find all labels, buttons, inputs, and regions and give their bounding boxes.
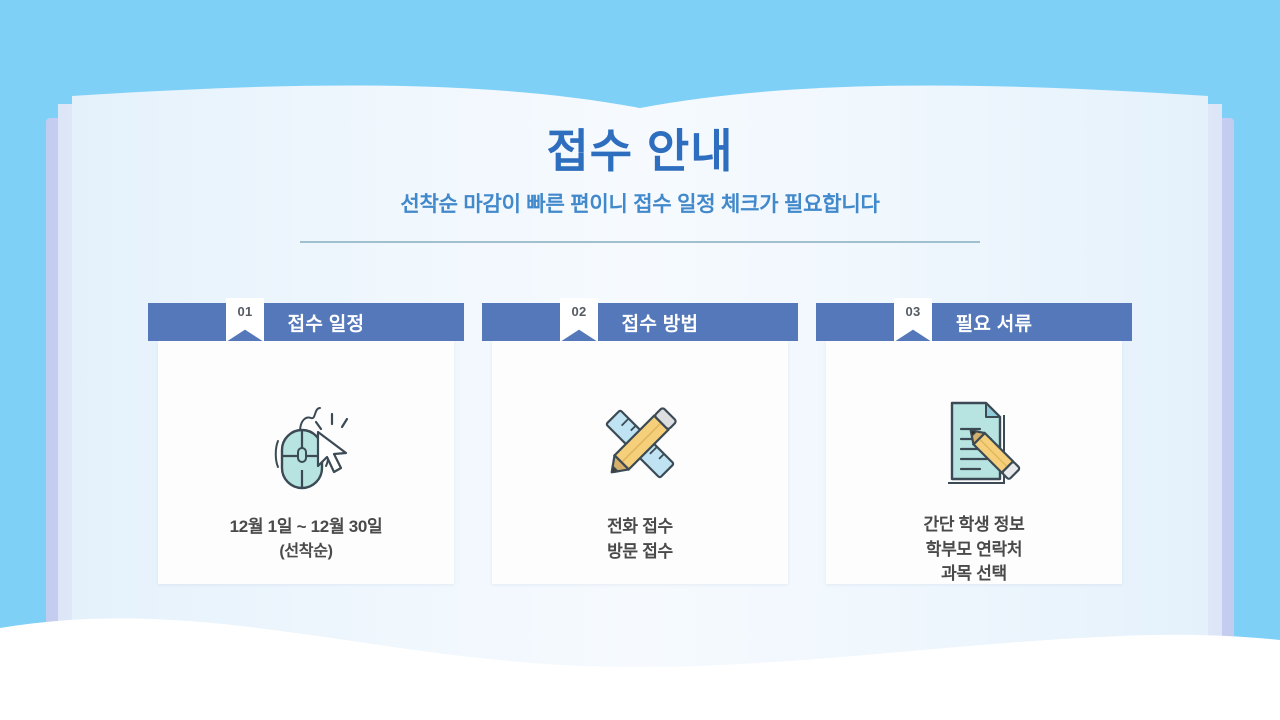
page-title: 접수 안내 bbox=[0, 126, 1280, 178]
slide-canvas: 접수 안내 선착순 마감이 빠른 편이니 접수 일정 체크가 필요합니다 01 … bbox=[0, 0, 1280, 720]
card-header-02: 02 접수 방법 bbox=[482, 303, 798, 341]
card-01[interactable]: 01 접수 일정 bbox=[148, 303, 464, 584]
ribbon-badge-icon: 02 bbox=[560, 298, 598, 342]
card-line: 방문 접수 bbox=[607, 540, 673, 565]
document-pencil-icon bbox=[924, 393, 1024, 493]
card-number-02: 02 bbox=[571, 304, 586, 319]
card-line: 학부모 연락처 bbox=[924, 538, 1025, 563]
card-body-01: 12월 1일 ~ 12월 30일 (선착순) bbox=[158, 341, 454, 584]
card-header-03: 03 필요 서류 bbox=[816, 303, 1132, 341]
card-title-02: 접수 방법 bbox=[622, 309, 699, 336]
card-line: 과목 선택 bbox=[924, 562, 1025, 587]
mouse-click-icon bbox=[256, 393, 356, 495]
card-title-03: 필요 서류 bbox=[956, 309, 1033, 336]
card-text-01: 12월 1일 ~ 12월 30일 (선착순) bbox=[230, 515, 383, 563]
card-title-01: 접수 일정 bbox=[288, 309, 365, 336]
card-text-02: 전화 접수 방문 접수 bbox=[607, 515, 673, 564]
bottom-wave-decoration bbox=[0, 570, 1280, 720]
card-03[interactable]: 03 필요 서류 bbox=[816, 303, 1132, 584]
pencil-ruler-icon bbox=[590, 393, 690, 495]
card-body-03: 간단 학생 정보 학부모 연락처 과목 선택 bbox=[826, 341, 1122, 584]
page-subtitle: 선착순 마감이 빠른 편이니 접수 일정 체크가 필요합니다 bbox=[0, 188, 1280, 218]
header-divider bbox=[300, 241, 980, 243]
ribbon-badge-icon: 03 bbox=[894, 298, 932, 342]
card-body-02: 전화 접수 방문 접수 bbox=[492, 341, 788, 584]
card-line: 12월 1일 ~ 12월 30일 bbox=[230, 515, 383, 540]
card-text-03: 간단 학생 정보 학부모 연락처 과목 선택 bbox=[924, 513, 1025, 587]
card-line: 전화 접수 bbox=[607, 515, 673, 540]
card-02[interactable]: 02 접수 방법 bbox=[482, 303, 798, 584]
card-number-03: 03 bbox=[905, 304, 920, 319]
card-header-01: 01 접수 일정 bbox=[148, 303, 464, 341]
ribbon-badge-icon: 01 bbox=[226, 298, 264, 342]
card-line: (선착순) bbox=[230, 540, 383, 563]
card-list: 01 접수 일정 bbox=[148, 303, 1132, 584]
slide-header: 접수 안내 선착순 마감이 빠른 편이니 접수 일정 체크가 필요합니다 bbox=[0, 126, 1280, 218]
card-number-01: 01 bbox=[237, 304, 252, 319]
card-line: 간단 학생 정보 bbox=[924, 513, 1025, 538]
